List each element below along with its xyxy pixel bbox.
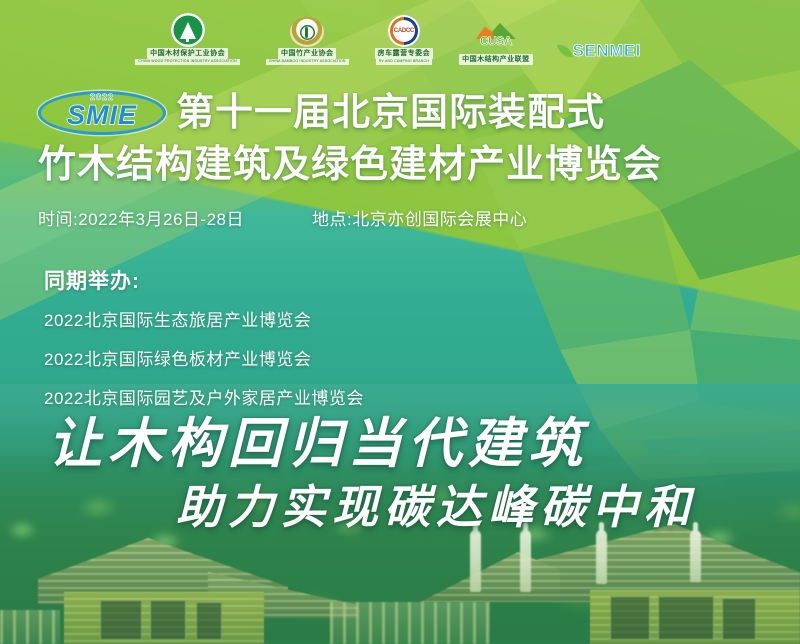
association-logo-bar: 中国木材保护工业协会 CHINA WOOD PROTECTION INDUSTR… [0,6,800,68]
exhibition-poster: 中国木材保护工业协会 CHINA WOOD PROTECTION INDUSTR… [0,0,800,644]
concurrent-events: 同期举办: 2022北京国际生态旅居产业博览会 2022北京国际绿色板材产业博览… [44,265,364,423]
cadcc-abbr: CADCC [393,20,415,42]
concurrent-heading: 同期举办: [44,265,364,295]
senmei-abbr: SENMEI [573,41,641,61]
logo-label-en: RV AND CAMPING BRANCH [376,59,432,65]
pine-tree-circle-icon [171,13,205,47]
concurrent-event-item: 2022北京国际生态旅居产业博览会 [44,306,364,331]
smie-wordmark: SMIE [38,100,166,131]
gold-seal-bamboo-icon [290,17,324,47]
logo-label-cn: 中国木结构产业联盟 [459,54,533,65]
senmei-leaf-wordmark-icon: SENMEI [559,37,665,65]
cabin-window-right-1 [610,596,650,640]
patio-umbrella-3 [596,530,607,584]
cabin-window-right-3 [722,598,756,640]
logo-label-cn: 房车露营专委会 [375,48,434,59]
event-meta: 时间:2022年3月26日-28日 地点:北京亦创国际会展中心 [38,205,778,230]
patio-umbrella-2 [520,530,531,592]
cabin-window-left-1 [100,600,142,640]
wooden-cabin-left [38,534,358,644]
leaf-icon [556,42,572,61]
patio-umbrella-1 [470,530,481,592]
event-date: 时间:2022年3月26日-28日 [38,205,244,230]
cabin-window-left-2 [150,600,186,640]
logo-senmei: SENMEI [559,9,665,65]
smie-logo: 2022 SMIE [38,91,166,135]
logo-label-en: CHINA WOOD PROTECTION INDUSTRY ASSOCIATI… [135,59,239,65]
wooden-railing-right [0,610,60,644]
slogan-line2: 助力实现碳达峰碳中和 [176,476,800,538]
logo-label-en: CHINA BAMBOO INDUSTRY ASSOCIATION [266,59,349,65]
concurrent-event-item: 2022北京国际园艺及户外家居产业博览会 [44,384,364,409]
event-title-line1: 第十一届北京国际装配式 [176,88,605,138]
house-roof-icon: CUSA [472,23,520,53]
concurrent-event-item: 2022北京国际绿色板材产业博览会 [44,345,364,370]
slogan-block: 让木构回归当代建筑 助力实现碳达峰碳中和 [0,410,800,538]
wooden-railing-left [330,602,490,644]
logo-cusa-wood-structure-alliance: CUSA 中国木结构产业联盟 [459,9,533,65]
logo-label-cn: 中国木材保护工业协会 [147,48,228,59]
event-title-line2: 竹木结构建筑及绿色建材产业博览会 [38,140,778,190]
logo-cadcc-rv-camping-committee: CADCC 房车露营专委会 RV AND CAMPING BRANCH [375,9,434,65]
cabin-window-left-3 [196,602,222,640]
logo-label-cn: 中国竹产业协会 [278,48,337,59]
cabin-window-right-2 [658,596,714,640]
logo-china-wood-protection-industry-association: 中国木材保护工业协会 CHINA WOOD PROTECTION INDUSTR… [135,9,239,65]
cusa-abbr: CUSA [472,34,520,48]
slogan-line1: 让木构回归当代建筑 [48,410,800,476]
logo-bamboo-industry-association: 中国竹产业协会 CHINA BAMBOO INDUSTRY ASSOCIATIO… [266,9,349,65]
event-venue: 地点:北京亦创国际会展中心 [312,205,527,230]
cadcc-badge-icon: CADCC [388,15,420,47]
event-headline: 2022 SMIE 第十一届北京国际装配式 竹木结构建筑及绿色建材产业博览会 [38,88,778,190]
